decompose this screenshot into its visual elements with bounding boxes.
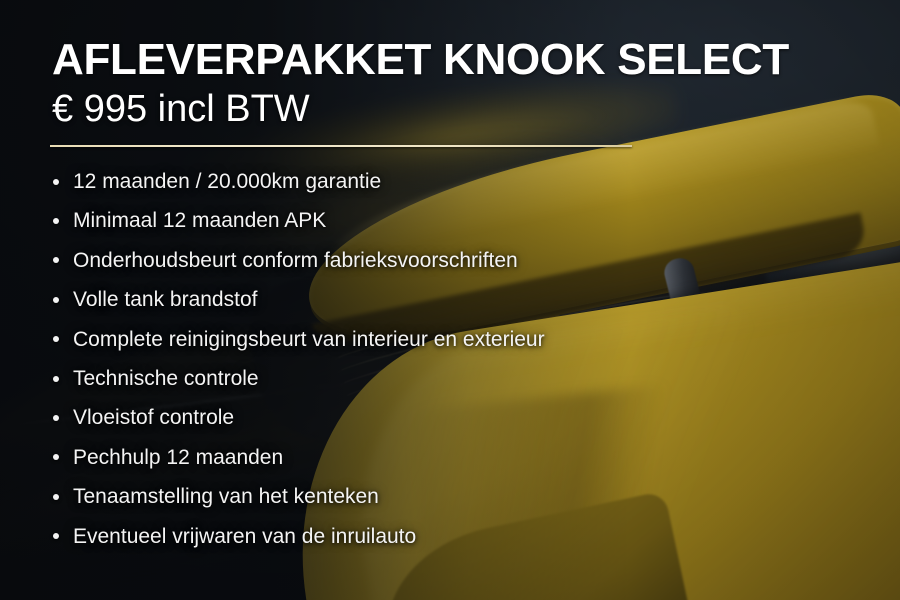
list-item: Vloeistof controle [52, 398, 692, 437]
title-divider [50, 145, 632, 147]
list-item: Technische controle [52, 359, 692, 398]
list-item-label: Pechhulp 12 maanden [73, 446, 283, 469]
bullet-icon [53, 297, 59, 303]
price-label: € 995 incl BTW [52, 90, 310, 128]
list-item-label: Tenaamstelling van het kenteken [73, 485, 379, 508]
list-item-label: Onderhoudsbeurt conform fabrieksvoorschr… [73, 249, 518, 272]
bullet-icon [53, 533, 59, 539]
list-item-label: Vloeistof controle [73, 406, 234, 429]
bullet-icon [53, 454, 59, 460]
bullet-icon [53, 218, 59, 224]
bullet-icon [53, 179, 59, 185]
page-title: AFLEVERPAKKET KNOOK SELECT [52, 38, 789, 82]
list-item: 12 maanden / 20.000km garantie [52, 162, 692, 201]
bullet-icon [53, 415, 59, 421]
bullet-icon [53, 336, 59, 342]
bullet-icon [53, 257, 59, 263]
list-item: Pechhulp 12 maanden [52, 438, 692, 477]
list-item-label: 12 maanden / 20.000km garantie [73, 170, 381, 193]
list-item: Onderhoudsbeurt conform fabrieksvoorschr… [52, 241, 692, 280]
promo-banner: AFLEVERPAKKET KNOOK SELECT € 995 incl BT… [0, 0, 900, 600]
list-item: Tenaamstelling van het kenteken [52, 477, 692, 516]
list-item: Volle tank brandstof [52, 280, 692, 319]
list-item-label: Eventueel vrijwaren van de inruilauto [73, 525, 416, 548]
list-item-label: Technische controle [73, 367, 259, 390]
list-item-label: Complete reinigingsbeurt van interieur e… [73, 328, 545, 351]
bullet-icon [53, 494, 59, 500]
banner-content: AFLEVERPAKKET KNOOK SELECT € 995 incl BT… [0, 0, 900, 600]
bullet-icon [53, 376, 59, 382]
list-item: Eventueel vrijwaren van de inruilauto [52, 517, 692, 556]
list-item: Complete reinigingsbeurt van interieur e… [52, 320, 692, 359]
list-item: Minimaal 12 maanden APK [52, 201, 692, 240]
feature-list: 12 maanden / 20.000km garantieMinimaal 1… [52, 162, 692, 556]
list-item-label: Minimaal 12 maanden APK [73, 209, 326, 232]
list-item-label: Volle tank brandstof [73, 288, 257, 311]
